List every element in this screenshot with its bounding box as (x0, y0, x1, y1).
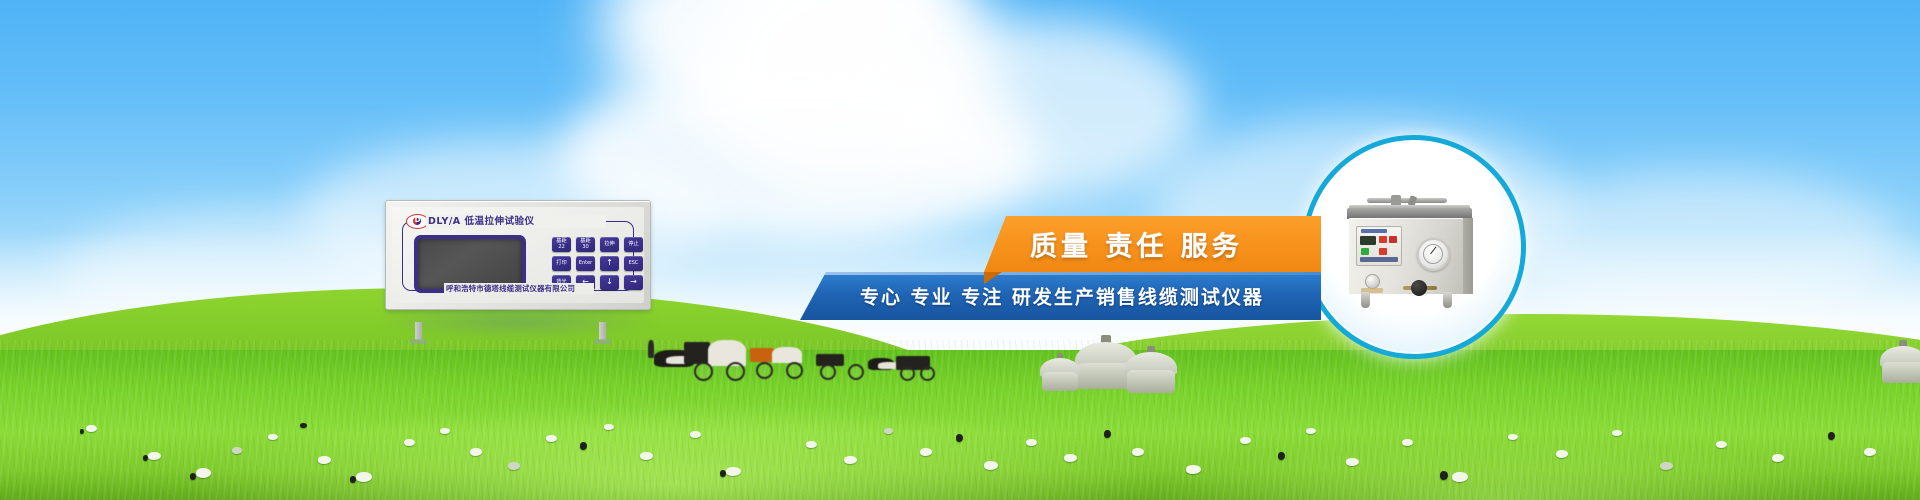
key-arrow-down-icon[interactable]: ↓ (600, 275, 619, 290)
machine-display (1360, 236, 1376, 245)
machine-brand-label (1361, 229, 1387, 233)
device-foot (594, 339, 611, 344)
sheep (1402, 439, 1413, 446)
device-company-name: 呼和浩特市德塔线缆测试仪器有限公司 (446, 283, 575, 294)
sheep (1772, 454, 1784, 462)
yurt (1040, 358, 1080, 390)
indicator-led-red (1379, 236, 1387, 243)
machine-small-knob (1365, 274, 1380, 289)
slogan-primary-text: 质量 责任 服务 (1030, 225, 1243, 264)
sheep (690, 431, 701, 438)
device-leg (599, 322, 606, 340)
tensile-tester-device[interactable]: D DLY/A 低温拉伸试验仪 基距 22 基距 30 拉伸 停止 打印 (385, 200, 649, 322)
key-base-30[interactable]: 基距 30 (576, 237, 595, 252)
sheep (1864, 448, 1876, 456)
sheep (984, 461, 998, 470)
key-enter[interactable]: Enter (576, 256, 595, 271)
slogan-ribbon-primary[interactable]: 质量 责任 服务 (984, 216, 1321, 272)
sheep (1440, 471, 1448, 480)
key-arrow-up-icon[interactable]: ↑ (600, 256, 619, 271)
sheep (350, 476, 356, 483)
key-base-22[interactable]: 基距 22 (552, 237, 571, 252)
sheep (720, 470, 726, 477)
sheep (1026, 439, 1037, 446)
sheep (580, 442, 587, 450)
ox-cart-caravan (640, 336, 1020, 382)
sheep (86, 425, 97, 432)
machine-control-panel (1356, 226, 1402, 266)
device-foot (410, 339, 427, 344)
yurt (1880, 346, 1920, 382)
sheep (232, 447, 242, 454)
sheep (956, 434, 963, 442)
machine-body (1349, 218, 1463, 294)
key-stretch[interactable]: 拉伸 (600, 237, 619, 252)
machine-caster (1361, 292, 1370, 308)
sheep (404, 439, 415, 446)
sheep (508, 462, 520, 470)
indicator-led-red (1379, 248, 1387, 255)
sheep (546, 435, 557, 442)
key-esc[interactable]: ESC (624, 256, 643, 271)
keypad-row: 基距 22 基距 30 拉伸 停止 (552, 237, 644, 252)
key-stop[interactable]: 停止 (624, 237, 643, 252)
key-print[interactable]: 打印 (552, 256, 571, 271)
sheep (884, 428, 893, 434)
yurt (1125, 352, 1177, 392)
sheep (1104, 430, 1111, 438)
machine-caster (1443, 292, 1452, 308)
product-highlight-circle[interactable] (1302, 135, 1526, 359)
gauge-dial (1423, 244, 1443, 264)
keypad-row: 打印 Enter ↑ ESC (552, 256, 644, 271)
sterilizer-machine-image (1347, 198, 1472, 306)
sheep (806, 441, 817, 448)
panel-label-strip (1360, 257, 1398, 262)
ribbon-highlight (800, 272, 1321, 275)
sheep (1716, 441, 1727, 448)
device-body: D DLY/A 低温拉伸试验仪 基距 22 基距 30 拉伸 停止 打印 (385, 200, 651, 310)
device-leg (415, 322, 422, 340)
indicator-led-green (1361, 248, 1369, 255)
device-model-title: DLY/A 低温拉伸试验仪 (428, 215, 534, 228)
drain-valve-knob (1411, 280, 1427, 296)
lid-handle (1367, 198, 1447, 203)
logo-letter: D (415, 216, 421, 225)
sheep (1240, 437, 1251, 444)
sheep (1828, 432, 1835, 440)
sheep (1132, 448, 1144, 456)
sheep (470, 448, 482, 456)
device-front-panel: D DLY/A 低温拉伸试验仪 基距 22 基距 30 拉伸 停止 打印 (392, 207, 644, 303)
sheep (1556, 450, 1568, 458)
slogan-ribbon-secondary[interactable]: 专心 专业 专注 研发生产销售线缆测试仪器 (800, 272, 1321, 320)
lcd-glass (418, 239, 522, 289)
sheep (80, 429, 84, 434)
promo-banner: D DLY/A 低温拉伸试验仪 基距 22 基距 30 拉伸 停止 打印 (0, 0, 1920, 500)
sheep (920, 448, 932, 456)
key-arrow-right-icon[interactable]: → (624, 275, 643, 290)
indicator-led-red (1389, 236, 1397, 243)
slogan-secondary-text: 专心 专业 专注 研发生产销售线缆测试仪器 (860, 283, 1264, 310)
sheep (1278, 452, 1285, 460)
sheep (190, 473, 196, 480)
sheep (300, 423, 307, 428)
pressure-gauge-icon (1417, 238, 1450, 271)
